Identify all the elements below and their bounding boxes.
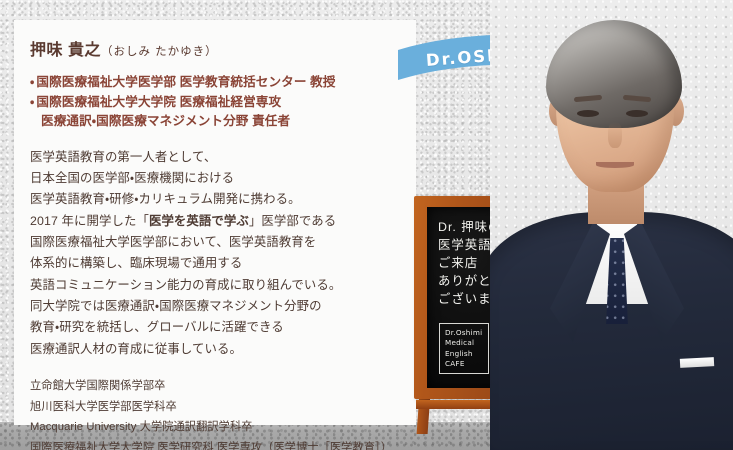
bio-text: 英語コミュニケーション能力の育成に取り組んでいる。 [30,278,341,292]
bullet-icon: ・ [30,75,34,89]
profile-banner: 押味 貴之（おしみ たかゆき） ・国際医療福祉大学医学部 医学教育統括センター … [0,0,733,450]
bio-line: 医学英語教育・研修・カリキュラム開発に携わる。 [30,189,408,210]
profile-card: 押味 貴之（おしみ たかゆき） ・国際医療福祉大学医学部 医学教育統括センター … [14,20,416,425]
bio-text: 教育・研究を統括し、グローバルに活躍できる [30,320,284,334]
pocket-square [680,357,714,368]
bio-line: 日本全国の医学部・医療機関における [30,168,408,189]
bio-line: 国際医療福祉大学医学部において、医学英語教育を [30,232,408,253]
bullet-icon: ・ [30,95,34,109]
eye-right [626,110,648,117]
bio-line: 教育・研究を統括し、グローバルに活躍できる [30,317,408,338]
logo-line: English [445,349,482,359]
bio-text: 医療通訳人材の育成に従事している。 [30,342,242,356]
bio-line: 医療通訳人材の育成に従事している。 [30,339,408,360]
mouth [596,162,634,168]
title-text-continuation: 医療通訳・国際医療マネジメント分野 責任者 [30,112,408,132]
title-item: ・国際医療福祉大学医学部 医学教育統括センター 教授 [30,73,408,93]
education-list: 立命館大学国際関係学部卒 旭川医科大学医学部医学科卒 Macquarie Uni… [30,376,408,450]
title-item: ・国際医療福祉大学大学院 医療福祉経営専攻 [30,93,408,113]
bio-text: 同大学院では医療通訳・国際医療マネジメント分野の [30,299,322,313]
bio-text: 国際医療福祉大学医学部において、医学英語教育を [30,235,316,249]
name-kana: （おしみ たかゆき） [101,46,218,58]
education-item: 旭川医科大学医学部医学科卒 [30,397,408,418]
bio-text: 医学英語教育の第一人者として、 [30,150,216,164]
logo-line: Dr.Oshimi [445,328,482,338]
profile-name: 押味 貴之（おしみ たかゆき） [30,30,408,60]
logo-line: Medical [445,338,482,348]
nose [608,122,622,148]
logo-line: CAFE [445,359,482,369]
portrait-photo [490,0,733,450]
cafe-logo-box: Dr.Oshimi Medical English CAFE [439,323,489,374]
bio-text: 2017 年に開学した「 [30,214,149,228]
bio-line: 医学英語教育の第一人者として、 [30,147,408,168]
title-text: 国際医療福祉大学医学部 医学教育統括センター 教授 [36,75,335,89]
biography-paragraph: 医学英語教育の第一人者として、 日本全国の医学部・医療機関における 医学英語教育… [30,147,408,360]
title-list: ・国際医療福祉大学医学部 医学教育統括センター 教授 ・国際医療福祉大学大学院 … [30,73,408,132]
education-item: Macquarie University 大学院通訳翻訳学科卒 [30,417,408,438]
title-text: 国際医療福祉大学大学院 医療福祉経営専攻 [36,95,281,109]
education-item: 立命館大学国際関係学部卒 [30,376,408,397]
bio-line: 同大学院では医療通訳・国際医療マネジメント分野の [30,296,408,317]
bio-line: 体系的に構築し、臨床現場で通用する [30,253,408,274]
eye-left [577,110,599,117]
education-item: 国際医療福祉大学大学院 医学研究科 医学専攻（医学博士［医学教育］） [30,438,408,450]
bio-text: 医学英語教育・研修・カリキュラム開発に携わる。 [30,192,301,206]
bio-line: 英語コミュニケーション能力の育成に取り組んでいる。 [30,275,408,296]
bio-emphasis: 医学を英語で学ぶ [149,214,249,228]
bio-text: 日本全国の医学部・医療機関における [30,171,234,185]
bio-line: 2017 年に開学した「医学を英語で学ぶ」医学部である [30,211,408,232]
bio-text: 体系的に構築し、臨床現場で通用する [30,256,242,270]
name-kanji: 押味 貴之 [30,42,101,59]
bio-text: 」医学部である [249,214,336,228]
